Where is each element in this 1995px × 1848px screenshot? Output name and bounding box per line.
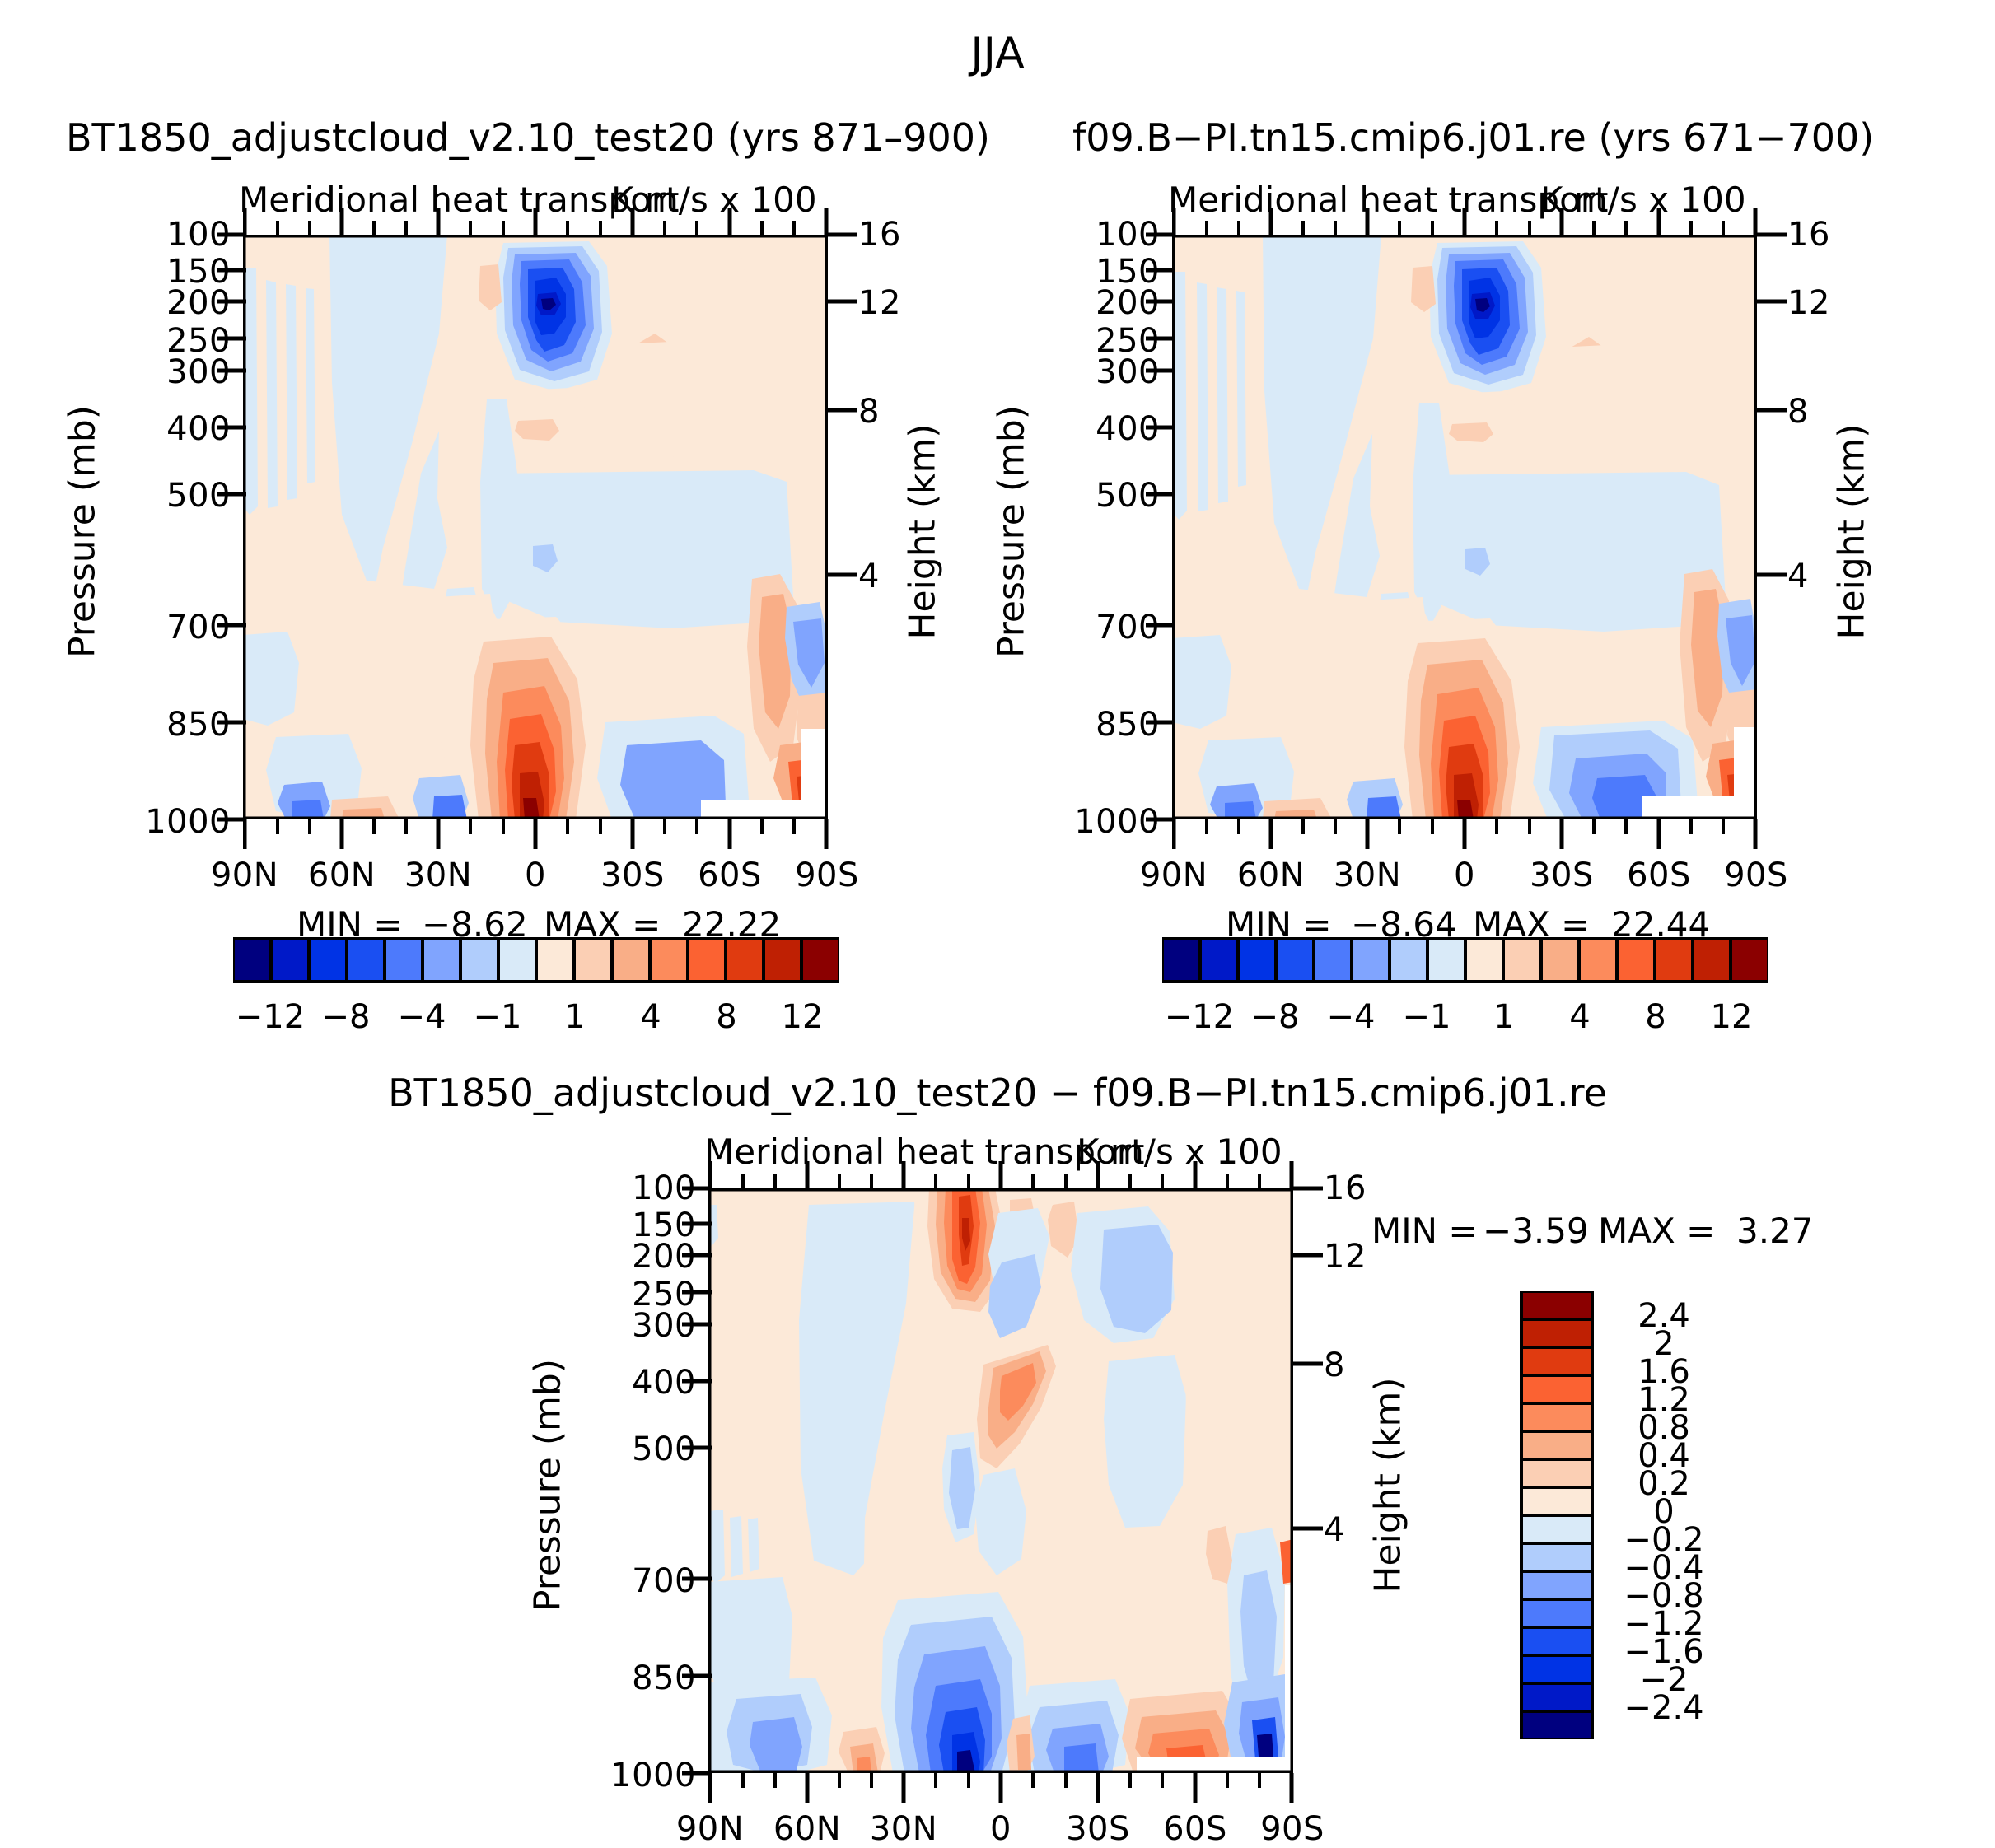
colorbar-swatch <box>764 939 801 982</box>
pressure-axis-label-p3: Pressure (mb) <box>527 1354 569 1617</box>
panel-reference-contour-plot <box>1172 235 1757 819</box>
colorbar-swatch <box>1521 1571 1592 1599</box>
pressure-axis-label-p2: Pressure (mb) <box>991 400 1033 664</box>
colorbar-swatch <box>612 939 650 982</box>
lat-tick-30S-p2: 30S <box>1512 856 1611 894</box>
lat-tick-30N-p1: 30N <box>389 856 488 894</box>
panel-model-right-ticks <box>828 231 861 824</box>
colorbar-swatch <box>1521 1543 1592 1571</box>
panel-reference-bottom-ticks <box>1172 818 1759 851</box>
colorbar-swatch <box>1276 939 1314 982</box>
colorbar-swatch <box>1693 939 1731 982</box>
colorbar-swatch <box>1521 1375 1592 1403</box>
colorbar-swatch <box>1617 939 1655 982</box>
height-tick-16-p3: 16 <box>1324 1172 1367 1205</box>
colorbar-swatch <box>498 939 536 982</box>
height-tick-4: 4 <box>858 560 880 593</box>
panel-difference-min-label: MIN = <box>1371 1211 1478 1251</box>
colorbar-swatch <box>1521 1599 1592 1627</box>
colorbar-swatch <box>574 939 612 982</box>
colorbar-swatch <box>801 939 839 982</box>
lat-tick-90N-p2: 90N <box>1124 856 1223 894</box>
panel-difference-min-value: −3.59 <box>1483 1211 1589 1251</box>
panel-difference-right-ticks <box>1293 1184 1326 1777</box>
colorbar-swatch <box>650 939 688 982</box>
cb-label-4-p2: 4 <box>1539 998 1621 1036</box>
colorbar-swatch <box>1521 1347 1592 1375</box>
colorbar-swatch <box>1390 939 1427 982</box>
colorbar-swatch <box>1521 1683 1592 1711</box>
panel-reference-colorbar[interactable] <box>1162 937 1768 983</box>
panel-difference-title: BT1850_adjustcloud_v2.10_test20 − f09.B−… <box>0 1071 1995 1115</box>
panel-reference-right-ticks <box>1757 231 1790 824</box>
colorbar-swatch <box>233 939 271 982</box>
cb-label-n4-p1: −4 <box>381 998 463 1036</box>
lat-tick-90S-p1: 90S <box>778 856 876 894</box>
lat-tick-90N-p1: 90N <box>195 856 294 894</box>
panel-reference-title: f09.B−PI.tn15.cmip6.j01.re (yrs 671−700) <box>1072 115 1874 160</box>
colorbar-swatch <box>1731 939 1768 982</box>
cb-label-n12-p1: −12 <box>229 998 311 1036</box>
colorbar-swatch <box>1521 1459 1592 1487</box>
cb-label-12-p2: 12 <box>1690 998 1773 1036</box>
colorbar-swatch <box>309 939 347 982</box>
colorbar-swatch <box>460 939 498 982</box>
height-tick-12-p2: 12 <box>1787 287 1830 320</box>
colorbar-swatch <box>347 939 385 982</box>
colorbar-swatch <box>1521 1319 1592 1347</box>
lat-tick-0-p2: 0 <box>1415 856 1514 894</box>
height-tick-8-p3: 8 <box>1324 1349 1345 1382</box>
colorbar-swatch <box>1579 939 1617 982</box>
colorbar-swatch <box>423 939 460 982</box>
panel-difference-top-ticks <box>708 1160 1295 1191</box>
cb-label-4-p1: 4 <box>610 998 692 1036</box>
cb-label-12-p1: 12 <box>761 998 843 1036</box>
colorbar-swatch <box>1314 939 1352 982</box>
panel-reference-top-ticks <box>1172 206 1759 237</box>
height-axis-label: Height (km) <box>902 400 944 664</box>
colorbar-swatch <box>271 939 309 982</box>
pressure-axis-label: Pressure (mb) <box>62 400 104 664</box>
lat-tick-60S-p2: 60S <box>1610 856 1708 894</box>
lat-tick-30S-p1: 30S <box>583 856 682 894</box>
panel-difference-bottom-ticks <box>708 1771 1295 1804</box>
height-tick-4-p3: 4 <box>1324 1514 1345 1547</box>
lat-tick-0-p1: 0 <box>486 856 585 894</box>
height-tick-16: 16 <box>858 218 901 251</box>
colorbar-swatch <box>1200 939 1238 982</box>
height-tick-8: 8 <box>858 395 880 428</box>
height-tick-12-p3: 12 <box>1324 1240 1367 1273</box>
cb-label-n1-p2: −1 <box>1385 998 1468 1036</box>
colorbar-swatch <box>1655 939 1693 982</box>
cbv-label-n2p4: −2.4 <box>1602 1689 1726 1727</box>
colorbar-swatch <box>1521 1487 1592 1515</box>
colorbar-swatch <box>1521 1655 1592 1683</box>
main-title: JJA <box>0 29 1995 78</box>
cb-label-1-p1: 1 <box>534 998 616 1036</box>
colorbar-swatch <box>688 939 726 982</box>
height-tick-12: 12 <box>858 287 901 320</box>
colorbar-swatch <box>1521 1403 1592 1431</box>
cb-label-8-p1: 8 <box>685 998 768 1036</box>
panel-difference-max-value: 3.27 <box>1736 1211 1814 1251</box>
colorbar-swatch <box>1238 939 1276 982</box>
panel-reference-left-ticks <box>1139 231 1175 824</box>
colorbar-swatch <box>1465 939 1503 982</box>
colorbar-swatch <box>1352 939 1390 982</box>
cb-label-n4-p2: −4 <box>1310 998 1392 1036</box>
panel-difference-contour-plot <box>708 1188 1293 1773</box>
panel-difference-left-ticks <box>675 1184 712 1777</box>
colorbar-swatch <box>1162 939 1200 982</box>
lat-tick-60N-p1: 60N <box>292 856 391 894</box>
panel-model-contour-plot <box>243 235 828 819</box>
panel-model-colorbar[interactable] <box>233 937 839 983</box>
colorbar-swatch <box>1521 1627 1592 1655</box>
colorbar-swatch <box>1541 939 1579 982</box>
colorbar-swatch <box>385 939 423 982</box>
colorbar-swatch <box>1521 1431 1592 1459</box>
lat-tick-60N-p2: 60N <box>1222 856 1320 894</box>
panel-model-bottom-ticks <box>243 818 829 851</box>
height-tick-4-p2: 4 <box>1787 560 1809 593</box>
cb-label-n8-p1: −8 <box>305 998 387 1036</box>
lat-tick-60S-p1: 60S <box>680 856 779 894</box>
colorbar-swatch <box>1521 1711 1592 1739</box>
panel-difference-colorbar[interactable] <box>1520 1291 1594 1739</box>
colorbar-swatch <box>1521 1515 1592 1543</box>
colorbar-swatch <box>536 939 574 982</box>
height-axis-label-p3: Height (km) <box>1367 1354 1409 1617</box>
colorbar-swatch <box>1503 939 1541 982</box>
height-axis-label-p2: Height (km) <box>1831 400 1873 664</box>
lat-tick-30N-p2: 30N <box>1318 856 1417 894</box>
colorbar-swatch <box>1521 1291 1592 1319</box>
lat-tick-90S-p2: 90S <box>1707 856 1806 894</box>
panel-model-top-ticks <box>243 206 829 237</box>
cb-label-n1-p1: −1 <box>456 998 539 1036</box>
colorbar-swatch <box>1427 939 1465 982</box>
cb-label-1-p2: 1 <box>1463 998 1545 1036</box>
colorbar-swatch <box>726 939 764 982</box>
panel-difference-max-label: MAX = <box>1598 1211 1715 1251</box>
height-tick-16-p2: 16 <box>1787 218 1830 251</box>
cb-label-n12-p2: −12 <box>1158 998 1240 1036</box>
cb-label-n8-p2: −8 <box>1234 998 1316 1036</box>
height-tick-8-p2: 8 <box>1787 395 1809 428</box>
panel-model-title: BT1850_adjustcloud_v2.10_test20 (yrs 871… <box>66 115 990 160</box>
panel-model-left-ticks <box>210 231 246 824</box>
cb-label-8-p2: 8 <box>1614 998 1697 1036</box>
